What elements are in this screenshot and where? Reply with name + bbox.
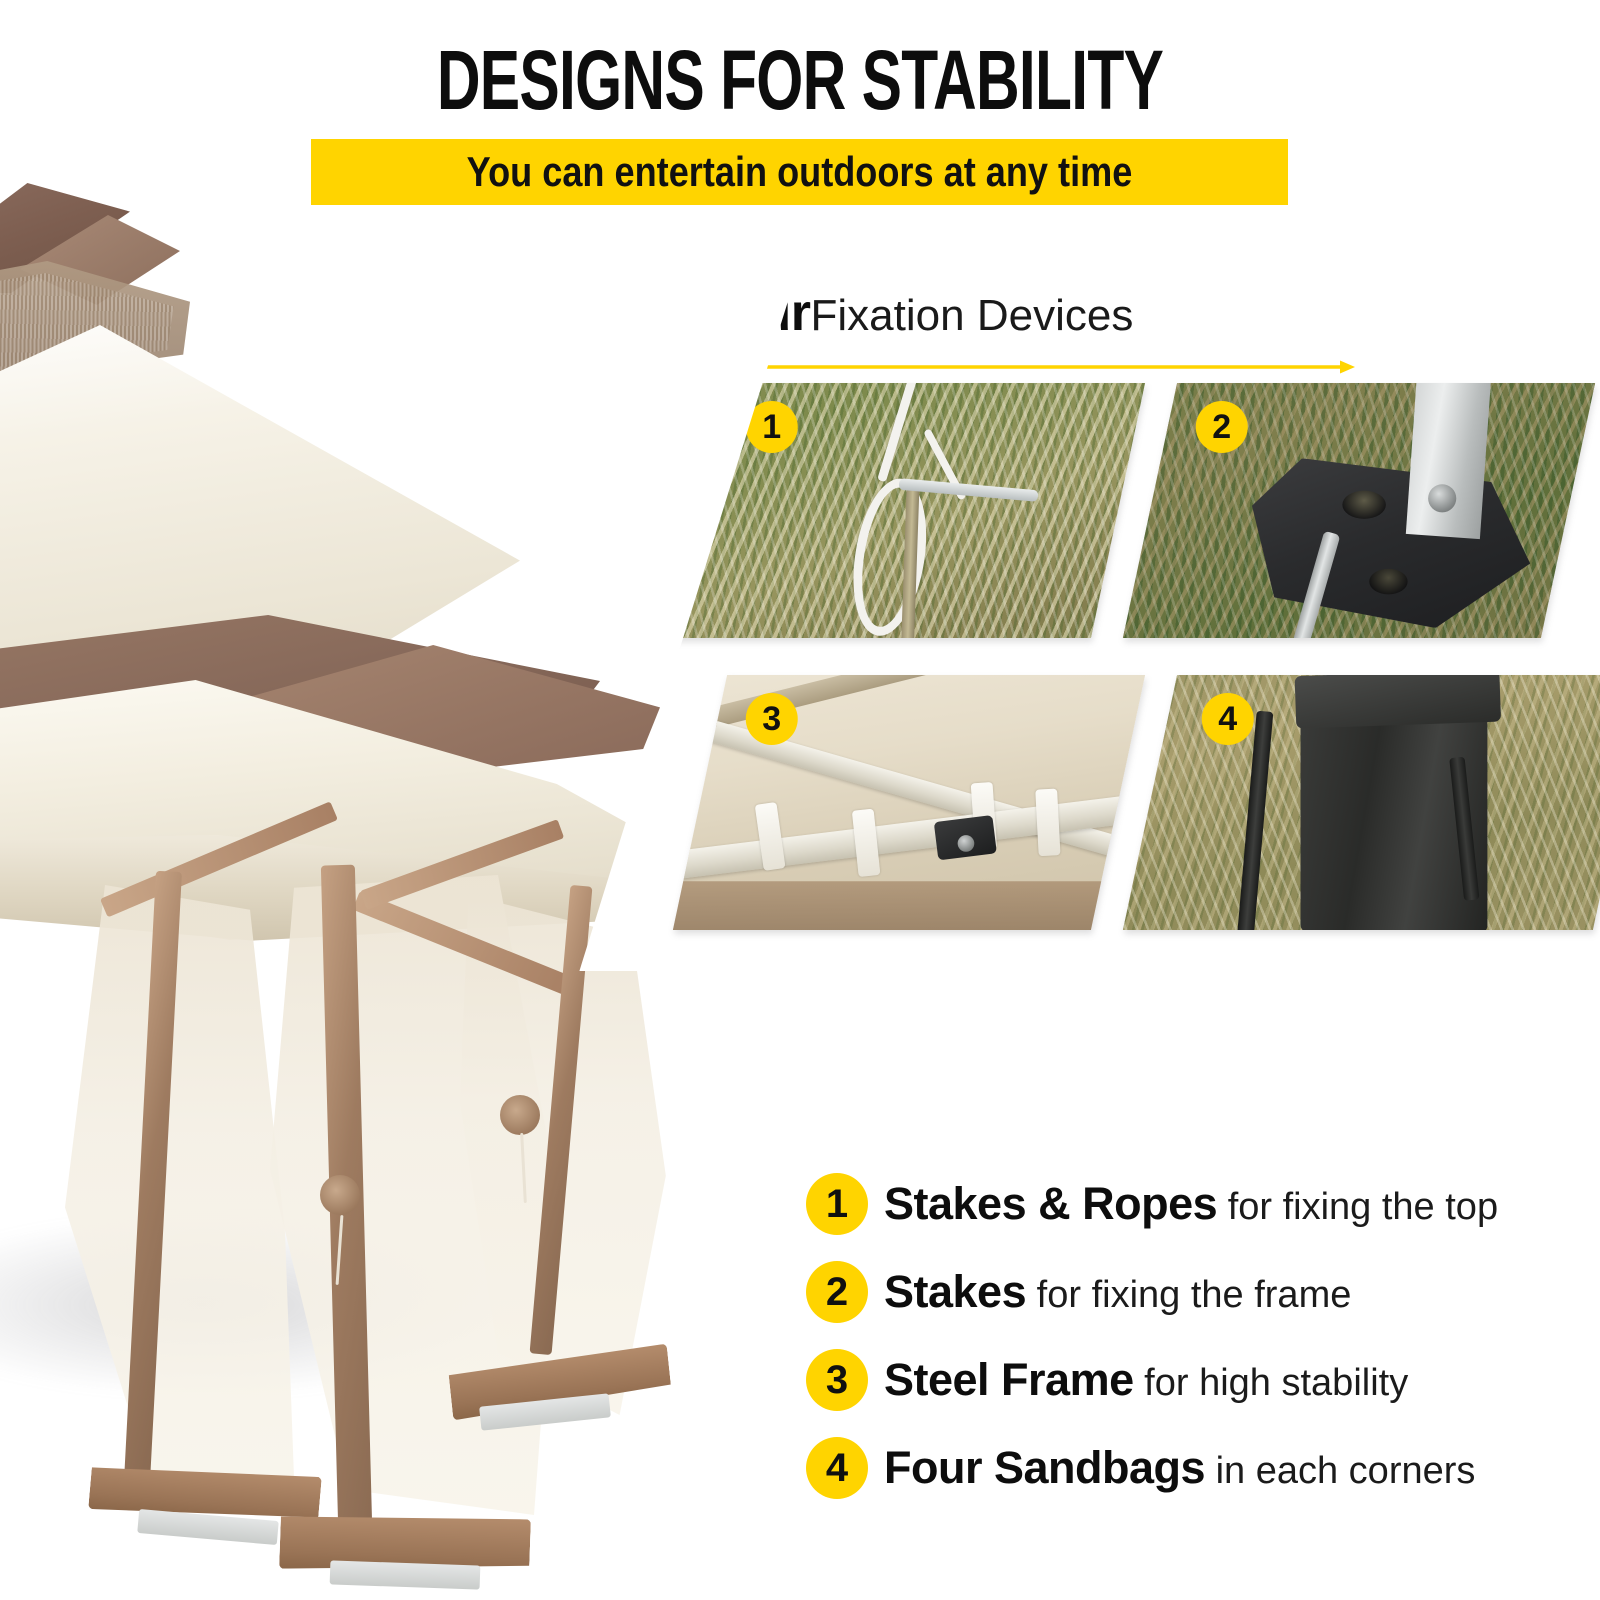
card-heading-light: Fixation Devices [811, 291, 1134, 340]
legend-desc-4: in each corners [1205, 1450, 1475, 1492]
legend-title-2: Stakes [884, 1266, 1026, 1317]
legend-desc-3: for high stability [1134, 1362, 1409, 1404]
canopy-underside-background [673, 675, 1145, 930]
photo-badge-2: 2 [1196, 401, 1248, 453]
legend-item-3: 3 Steel Frame for high stability [806, 1336, 1566, 1424]
legend-title-1: Stakes & Ropes [884, 1178, 1217, 1229]
legend-badge-1: 1 [806, 1173, 868, 1235]
sandbag-strap-left [1237, 711, 1273, 930]
legend-title-3: Steel Frame [884, 1354, 1134, 1405]
legend-text-4: Four Sandbags in each corners [884, 1442, 1475, 1494]
legend-title-4: Four Sandbags [884, 1442, 1205, 1493]
legend-badge-3: 3 [806, 1349, 868, 1411]
page-title: DESIGNS FOR STABILITY [224, 38, 1376, 122]
gazebo-mesh-curtains [30, 875, 670, 1600]
grass-background-4 [1123, 675, 1600, 930]
legend-text-2: Stakes for fixing the frame [884, 1266, 1351, 1318]
photo-panel-3[interactable]: 3 [673, 675, 1145, 930]
legend-item-1: 1 Stakes & Ropes for fixing the top [806, 1160, 1566, 1248]
sandbag-opening-icon [1294, 675, 1500, 728]
marketing-image: DESIGNS FOR STABILITY You can entertain … [0, 0, 1600, 1600]
curtain-tieback-left [320, 1175, 360, 1215]
velcro-strap-2 [852, 808, 881, 876]
mesh-curtain-backdrop [673, 881, 1145, 930]
photo-badge-3: 3 [746, 693, 798, 745]
legend-list: 1 Stakes & Ropes for fixing the top 2 St… [806, 1160, 1566, 1512]
photo-grid: 1 2 [605, 383, 1600, 943]
photo-badge-4: 4 [1202, 693, 1254, 745]
rope-loop-icon [843, 473, 936, 638]
legend-text-3: Steel Frame for high stability [884, 1354, 1408, 1406]
rope-strand-icon [877, 383, 929, 482]
foot-plate-icon [1252, 458, 1530, 628]
curtain-tieback-right [500, 1095, 540, 1135]
photo-panel-4[interactable]: 4 [1123, 675, 1600, 930]
curtain-hem-silver-center [330, 1560, 481, 1589]
legend-item-2: 2 Stakes for fixing the frame [806, 1248, 1566, 1336]
grass-background-2 [1123, 383, 1595, 638]
yellow-arrow-icon [700, 360, 1355, 374]
legend-text-1: Stakes & Ropes for fixing the top [884, 1178, 1498, 1230]
photo-panel-2[interactable]: 2 [1123, 383, 1595, 638]
legend-desc-1: for fixing the top [1217, 1186, 1498, 1228]
frame-hub-bolt-icon [957, 835, 974, 852]
velcro-strap-4 [1036, 789, 1061, 857]
gazebo-leg-icon [1406, 383, 1494, 539]
legend-item-4: 4 Four Sandbags in each corners [806, 1424, 1566, 1512]
card-heading: FourFixation Devices [697, 283, 1133, 343]
legend-badge-4: 4 [806, 1437, 868, 1499]
legend-desc-2: for fixing the frame [1026, 1274, 1351, 1316]
legend-badge-2: 2 [806, 1261, 868, 1323]
